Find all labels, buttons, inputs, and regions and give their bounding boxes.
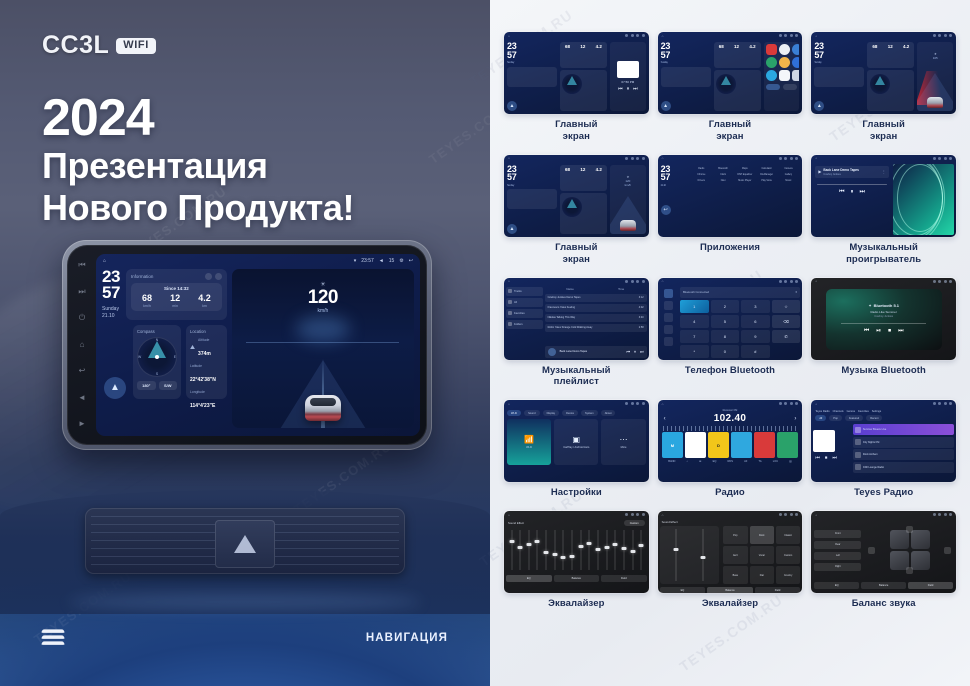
thumbnail-balance[interactable]: ⌂ Front Rear Left Right — [811, 511, 956, 593]
gallery-item[interactable]: ⌂ 235721.10 ↩ Radio Bluetooth Maps Calcu… — [658, 155, 803, 275]
preset-tiles[interactable]: M D — [660, 432, 801, 458]
next-icon[interactable]: ⏭ — [832, 455, 837, 461]
altitude-label: Altitude — [198, 338, 211, 342]
key-2[interactable]: 2 — [711, 300, 740, 313]
speaker-pad[interactable] — [890, 530, 930, 570]
hardware-button-strip[interactable]: ⏮ ⏭ ⏻ ⌂ ↩ ◄ ► — [74, 260, 90, 428]
app-tile[interactable]: Calculator — [757, 167, 777, 170]
slider[interactable] — [701, 529, 704, 581]
playback-controls[interactable]: ⏮ ⏯ ⏹ ⏭ — [864, 328, 904, 335]
next-icon[interactable]: › — [794, 416, 796, 422]
arrow-up-icon[interactable] — [906, 526, 913, 533]
eq-band[interactable] — [534, 528, 541, 572]
prev-icon[interactable]: ⏮ — [864, 328, 869, 335]
gallery-item[interactable]: ⌂ 2357Sunday ▲ 68124.2 — [811, 32, 956, 152]
drive-view-widget[interactable]: ☀ 120 km/h — [232, 269, 414, 428]
prev-icon[interactable]: ‹ — [664, 416, 666, 422]
gallery-grid: ⌂ 2357 Sunday ▲ 68124.2 — [504, 32, 956, 619]
prev-icon[interactable]: ⏮ — [815, 455, 820, 461]
app-tile[interactable]: Clock — [713, 173, 733, 176]
gallery-item[interactable]: ⌂ Front Rear Left Right — [811, 511, 956, 619]
menu-icon[interactable]: ▤ — [789, 460, 791, 463]
home-icon: ⌂ — [662, 402, 664, 406]
compass-direction: S/W — [159, 381, 178, 390]
preset-rock[interactable]: Rock — [750, 526, 774, 544]
gallery-item[interactable]: ⌂ Sound Effect Pop Rock Classic — [658, 511, 803, 619]
panel-more[interactable]: ⋯More — [601, 419, 645, 465]
clock-minutes: 57 — [102, 285, 120, 301]
eq-band[interactable] — [525, 528, 532, 572]
wifi-icon: ▾ — [354, 258, 357, 264]
preset-2[interactable] — [685, 432, 707, 458]
speed-readout: ☀105 — [917, 52, 953, 60]
stop-icon[interactable]: ⏹ — [888, 328, 891, 335]
preset-classic[interactable]: Classic — [776, 526, 800, 544]
search-icon[interactable] — [664, 313, 673, 322]
longitude-value: 114°4'23"E — [190, 403, 215, 409]
next-track-button[interactable]: ⏭ — [78, 287, 87, 296]
contacts-icon[interactable] — [664, 301, 673, 310]
gallery-item[interactable]: ⌂ 2357Sunday ▲ 68124.2 — [504, 155, 649, 275]
volume-up-button[interactable]: ► — [78, 419, 87, 428]
button-right[interactable]: Right — [814, 563, 861, 571]
product-logo: CC3L WIFI — [42, 31, 156, 60]
prev-icon[interactable]: ⏮ — [839, 189, 844, 196]
app-tile[interactable]: Gallery — [779, 173, 799, 176]
arrow-left-icon[interactable] — [868, 547, 875, 554]
play-pause-icon[interactable]: ⏯ — [876, 328, 881, 335]
navigation-arrow-icon: ▲ — [507, 224, 517, 234]
sidebar-item[interactable]: Tracks — [506, 287, 543, 296]
eq-band[interactable] — [620, 528, 627, 572]
app-tile[interactable]: Camera — [779, 167, 799, 170]
compass-dial: N E S W — [137, 337, 177, 377]
ta-icon[interactable]: TA — [759, 460, 762, 463]
gallery-item[interactable]: ⌂ 2357Sunday ▲ 68124.2 — [658, 32, 803, 152]
compass-s: S — [156, 372, 158, 376]
button-front[interactable]: Front — [814, 530, 861, 538]
button-left[interactable]: Left — [814, 552, 861, 560]
tab-field[interactable]: Field — [601, 575, 647, 582]
thumbnail-home-drive[interactable]: ⌂ 2357Sunday ▲ 68124.2 — [504, 155, 649, 237]
sidebar-item[interactable]: Favorites — [506, 309, 543, 318]
tab-eq[interactable]: EQ — [506, 575, 552, 582]
teyes-radio-chips[interactable]: All Pop Featured Recent — [813, 414, 954, 422]
home-icon: ⌂ — [508, 513, 510, 517]
preset-country[interactable]: Country — [776, 566, 800, 584]
band-icon[interactable]: BAND — [668, 460, 675, 463]
compass-heading: 180° — [137, 381, 156, 390]
eq-band[interactable] — [577, 528, 584, 572]
stat-distance: 4.2 km — [198, 294, 211, 308]
thumbnail-playlist[interactable]: ⌂ Tracks All Favorites Folders NameTime … — [504, 278, 649, 360]
loc-icon[interactable]: LOC — [773, 460, 778, 463]
app-tile[interactable]: Chrome — [691, 173, 711, 176]
gallery-caption: Главныйэкран — [555, 242, 597, 275]
eq-band[interactable] — [603, 528, 610, 572]
mini-clock: 235721.10 — [661, 165, 689, 188]
album-art — [813, 430, 835, 452]
eq-icon[interactable]: EQ — [713, 460, 717, 463]
tab-genres[interactable]: Genres — [847, 410, 856, 413]
expand-icon[interactable] — [215, 273, 222, 280]
gallery-item[interactable]: ⌂ 2357 Sunday ▲ 68124.2 — [504, 32, 649, 152]
app-tile[interactable]: FileManager — [757, 173, 777, 176]
more-icon[interactable]: ⋮ — [882, 169, 886, 174]
thumbnail-equalizer[interactable]: ⌂ Sound Effect Custom — [504, 511, 649, 593]
key-7[interactable]: 7 — [680, 330, 709, 343]
prev-track-button[interactable]: ⏮ — [78, 260, 87, 269]
stop-icon[interactable]: ⏹ — [825, 455, 828, 461]
information-widget[interactable]: Information Since 14:32 — [126, 269, 227, 320]
arrow-down-icon[interactable] — [906, 567, 913, 574]
keypad[interactable]: 1 2 3 ☆ 4 5 6 ⌫ 7 8 9 ✆ — [680, 300, 800, 358]
eq-band-bank[interactable] — [506, 528, 647, 572]
app-tile[interactable]: Navi — [713, 179, 733, 182]
tab-settings[interactable]: Settings — [872, 410, 881, 413]
key-5[interactable]: 5 — [711, 315, 740, 328]
tab-favorites[interactable]: Favorites — [858, 410, 869, 413]
bt-music-card: ✦Bluetooth 5.1 Radio Like Summer Cowboy … — [826, 289, 942, 350]
gallery-caption: Главныйэкран — [555, 119, 597, 152]
tab-field[interactable]: Field — [755, 587, 801, 593]
now-playing-row[interactable]: ▶ Back Lane Demo Tapes Cowboy Junkies ⋮ — [815, 166, 888, 178]
bt-title: Bluetooth 5.1 — [874, 303, 899, 308]
information-title: Information — [131, 274, 154, 279]
preset-1[interactable]: M — [662, 432, 684, 458]
equalizer-preset[interactable]: Custom — [624, 520, 645, 526]
mini-clock: 2357 Sunday — [507, 42, 557, 65]
dialer-sidebar[interactable] — [660, 287, 678, 358]
pause-icon[interactable]: ⏸ — [851, 189, 854, 196]
latitude-value: 22°42'38"N — [190, 377, 216, 383]
eq-footer-tabs[interactable]: EQ Balance Field — [660, 587, 801, 593]
headline: 2024 Презентация Нового Продукта! — [42, 92, 354, 229]
home-icon: ⌂ — [815, 156, 817, 160]
search-icon[interactable]: ⌕ — [687, 460, 688, 463]
keypad-icon[interactable] — [664, 289, 673, 298]
eq-band[interactable] — [594, 528, 601, 572]
media-time: 07:50 PM — [621, 80, 634, 84]
button-rear[interactable]: Rear — [814, 541, 861, 549]
column-name: Name — [547, 287, 594, 291]
sidebar-item[interactable]: All — [506, 298, 543, 307]
gallery-item[interactable]: ⌂ Sound Effect Custom — [504, 511, 649, 619]
eq-band[interactable] — [560, 528, 567, 572]
head-unit-screen[interactable]: ⌂ ▾ 23:57 ◄ 15 ⚙ ↩ — [96, 254, 420, 436]
preset-4[interactable] — [731, 432, 753, 458]
tab-balance[interactable]: Balance — [861, 582, 906, 589]
tab-balance[interactable]: Balance — [554, 575, 600, 582]
compass-w: W — [138, 355, 141, 359]
thumbnail-home-drive-red[interactable]: ⌂ 2357Sunday ▲ 68124.2 — [811, 32, 956, 114]
gallery-caption: Приложения — [700, 242, 760, 263]
refresh-icon[interactable] — [205, 273, 212, 280]
panel-wifi[interactable]: 📶Wi-Fi — [507, 419, 551, 465]
compass-widget[interactable]: Compass N E S W 180° — [133, 325, 181, 399]
home-icon: ⌂ — [508, 402, 510, 406]
key-8[interactable]: 8 — [711, 330, 740, 343]
preset-bass[interactable]: Bass — [723, 566, 747, 584]
favorite-icon[interactable]: ☆ — [772, 300, 801, 313]
key-1[interactable]: 1 — [680, 300, 709, 313]
arrow-right-icon[interactable] — [944, 547, 951, 554]
stat-speed: 68 km/h — [142, 294, 152, 308]
key-3[interactable]: 3 — [741, 300, 770, 313]
tab-balance[interactable]: Balance — [707, 587, 753, 593]
chip-featured[interactable]: Featured — [845, 415, 863, 421]
station-row[interactable]: Rock Anthem — [853, 449, 954, 460]
thumbnail-dialer[interactable]: ⌂ Bluetooth Connected ✦ — [658, 278, 803, 360]
next-icon[interactable]: ⏭ — [640, 349, 644, 354]
settings-icon[interactable] — [664, 337, 673, 346]
playback-controls[interactable]: ⏮⏹⏭ — [813, 455, 850, 461]
tab-system[interactable]: System — [581, 410, 598, 416]
home-button[interactable]: ⌂ — [78, 340, 87, 349]
home-icon: ⌂ — [815, 34, 817, 38]
track-row[interactable]: Robin Yates Strange Cold Walking Away2:5… — [545, 324, 647, 332]
gallery-item[interactable]: ⌂ Bluetooth Connected ✦ — [658, 278, 803, 398]
power-button[interactable]: ⏻ — [78, 313, 87, 322]
eq-band[interactable] — [629, 528, 636, 572]
navigation-arrow-icon[interactable]: ▲ — [104, 377, 126, 399]
tuner-scale[interactable] — [663, 426, 798, 431]
preset-custom[interactable]: Custom — [776, 546, 800, 564]
home-icon: ⌂ — [815, 279, 817, 283]
speed-unit: km/h — [232, 308, 414, 314]
headline-line-2: Нового Продукта! — [42, 187, 354, 229]
station-row[interactable]: Chill Lounge Radio — [853, 462, 954, 473]
bt-track: Radio Like Summer — [870, 310, 896, 314]
eq-band[interactable] — [508, 528, 515, 572]
chip-all[interactable]: All — [815, 415, 826, 421]
gallery-item[interactable]: ⌂ ▶ Back Lane Demo Tapes Cowboy Junkies … — [811, 155, 956, 275]
hazard-button[interactable] — [215, 520, 275, 568]
progress-bar[interactable] — [841, 323, 927, 324]
tab-teyes-radio[interactable]: Teyes Radio — [815, 410, 829, 413]
thumbnail-bt-music[interactable]: ⌂ ✦Bluetooth 5.1 Radio Like Summer Cowbo… — [811, 278, 956, 360]
preset-pop[interactable]: Pop — [723, 526, 747, 544]
location-title: Location — [190, 329, 223, 334]
track-title: Back Lane Demo Tapes — [823, 168, 879, 172]
key-9[interactable]: 9 — [741, 330, 770, 343]
recents-icon[interactable] — [664, 325, 673, 334]
preset-5[interactable] — [754, 432, 776, 458]
eq-band[interactable] — [612, 528, 619, 572]
tab-device[interactable]: Device — [562, 410, 578, 416]
pause-icon[interactable]: ⏸ — [634, 349, 636, 354]
app-tile[interactable]: Bluetooth — [713, 167, 733, 170]
compass-n: N — [156, 338, 158, 342]
gallery-item[interactable]: ⌂ ✦Bluetooth 5.1 Radio Like Summer Cowbo… — [811, 278, 956, 398]
altitude-value: 374m — [198, 351, 211, 357]
backspace-icon[interactable]: ⌫ — [772, 315, 801, 328]
eq-band[interactable] — [586, 528, 593, 572]
hazard-triangle-icon — [234, 535, 256, 553]
eq-band[interactable] — [551, 528, 558, 572]
mini-clock: 2357Sunday — [814, 42, 864, 65]
eq-band[interactable] — [638, 528, 645, 572]
eq2-sliders[interactable] — [660, 526, 719, 584]
gallery-caption: Teyes Радио — [854, 487, 913, 508]
next-icon[interactable]: ⏭ — [898, 328, 903, 335]
home-icon[interactable]: ⌂ — [103, 258, 106, 264]
thumbnail-home-media[interactable]: ⌂ 2357 Sunday ▲ 68124.2 — [504, 32, 649, 114]
station-list[interactable]: Summer Breeze Live City Nights FM Rock A… — [853, 424, 954, 476]
equalizer-title: Sound Effect — [508, 521, 524, 525]
altitude-icon: ⛰ — [190, 345, 195, 352]
presentation-slide: TEYES.COM.RU TEYES.COM.RU TEYES.COM.RU T… — [0, 0, 970, 686]
tab-channels[interactable]: Channels — [833, 410, 844, 413]
next-icon[interactable]: ⏭ — [860, 189, 865, 196]
headline-year: 2024 — [42, 92, 354, 145]
eq-band[interactable] — [568, 528, 575, 572]
gallery-caption: Телефон Bluetooth — [685, 365, 775, 386]
navigation-arrow-icon: ▲ — [507, 101, 517, 111]
gallery-item[interactable]: ⌂ Teyes Radio Channels Genres Favorites … — [811, 400, 956, 508]
gallery-item[interactable]: ⌂ Receiver FM ‹ 102.40 › M D — [658, 400, 803, 508]
preset-vocal[interactable]: Vocal — [750, 546, 774, 564]
tab-display[interactable]: Display — [543, 410, 560, 416]
tab-eq[interactable]: EQ — [660, 587, 706, 593]
eq-band[interactable] — [543, 528, 550, 572]
tab-about[interactable]: About — [601, 410, 616, 416]
station-row[interactable]: Summer Breeze Live — [853, 424, 954, 435]
track-row[interactable]: Nikolas Talking This Way3:40 — [545, 314, 647, 322]
app-tile[interactable]: Music — [779, 179, 799, 182]
key-star[interactable]: * — [680, 345, 709, 358]
gallery-caption: Главныйэкран — [709, 119, 751, 152]
back-button[interactable]: ↩ — [78, 366, 87, 375]
status-time: 23:57 — [361, 258, 374, 264]
thumbnail-apps[interactable]: ⌂ 235721.10 ↩ Radio Bluetooth Maps Calcu… — [658, 155, 803, 237]
panel-carplay[interactable]: ▣CarPlay / Android Auto — [554, 419, 598, 465]
tab-field[interactable]: Field — [908, 582, 953, 589]
key-4[interactable]: 4 — [680, 315, 709, 328]
gallery-item[interactable]: ⌂ Wi-Fi Sound Display Device System Abou… — [504, 400, 649, 508]
tab-sound[interactable]: Sound — [524, 410, 540, 416]
volume-down-button[interactable]: ◄ — [78, 393, 87, 402]
gear-icon[interactable]: ⚙ — [399, 258, 403, 264]
clock-day: Sunday — [102, 306, 120, 313]
thumbnail-settings[interactable]: ⌂ Wi-Fi Sound Display Device System Abou… — [504, 400, 649, 482]
track-artist: Cowboy Junkies — [823, 173, 879, 176]
balance-buttons[interactable]: Front Rear Left Right — [814, 530, 861, 571]
app-tile[interactable]: Drivers — [691, 179, 711, 182]
tab-wifi[interactable]: Wi-Fi — [507, 410, 521, 416]
preset-flat[interactable]: Flat — [750, 566, 774, 584]
call-icon[interactable]: ✆ — [772, 330, 801, 343]
chip-recent[interactable]: Recent — [866, 415, 882, 421]
slider[interactable] — [675, 529, 678, 581]
key-6[interactable]: 6 — [741, 315, 770, 328]
location-widget[interactable]: Location ⛰ Altitude 374m — [186, 325, 227, 399]
gallery-caption: Главныйэкран — [862, 119, 904, 152]
gallery-caption: Музыка Bluetooth — [841, 365, 926, 386]
gallery-item[interactable]: ⌂ Tracks All Favorites Folders NameTime … — [504, 278, 649, 398]
home-icon: ⌂ — [662, 279, 664, 283]
track-row[interactable]: Cowboy Junkies Demo Tapes3:12 — [545, 294, 647, 302]
gallery-caption: Эквалайзер — [548, 598, 604, 619]
home-left-column: 23 57 Sunday 21.10 Information — [102, 269, 227, 428]
app-tile[interactable]: DSP Equalizer — [735, 173, 755, 176]
af-icon[interactable]: AF — [744, 460, 747, 463]
status-bar: ⌂ ▾ 23:57 ◄ 15 ⚙ ↩ — [96, 254, 420, 267]
app-tile[interactable]: Radio — [691, 167, 711, 170]
progress-bar[interactable] — [817, 184, 886, 185]
gallery-caption: Настройки — [551, 487, 602, 508]
thumbnail-teyes-radio[interactable]: ⌂ Teyes Radio Channels Genres Favorites … — [811, 400, 956, 482]
playback-controls[interactable]: ⏮ ⏸ ⏭ — [815, 189, 888, 196]
bt-artist: Cowboy Junkies — [874, 315, 893, 318]
volume-icon: ◄ — [379, 258, 384, 264]
prev-icon[interactable]: ⏮ — [626, 349, 630, 354]
sidebar-item[interactable]: Folders — [506, 320, 543, 329]
key-hash[interactable]: # — [741, 345, 770, 358]
app-tile[interactable]: Music Player — [735, 179, 755, 182]
tab-eq[interactable]: EQ — [814, 582, 859, 589]
list-icon[interactable]: ☰ — [699, 460, 701, 463]
rds-icon[interactable]: RDS — [727, 460, 732, 463]
mini-player[interactable]: Back Lane Demo Tapes ⏮⏸⏭ — [545, 346, 647, 358]
station-row[interactable]: City Nights FM — [853, 437, 954, 448]
visualizer — [893, 164, 954, 235]
information-since: Since 14:32 — [133, 286, 220, 291]
app-tile[interactable]: Maps — [735, 167, 755, 170]
settings-tabs[interactable]: Wi-Fi Sound Display Device System About — [507, 410, 646, 416]
thumbnail-music-player[interactable]: ⌂ ▶ Back Lane Demo Tapes Cowboy Junkies … — [811, 155, 956, 237]
key-0[interactable]: 0 — [711, 345, 740, 358]
preset-3[interactable]: D — [708, 432, 730, 458]
preset-jazz[interactable]: Jazz — [723, 546, 747, 564]
gallery-caption: Музыкальныйпроигрыватель — [846, 242, 921, 275]
thumbnail-home-apps[interactable]: ⌂ 2357Sunday ▲ 68124.2 — [658, 32, 803, 114]
thumbnail-equalizer-2[interactable]: ⌂ Sound Effect Pop Rock Classic — [658, 511, 803, 593]
radio-toolbar[interactable]: BAND ⌕ ☰ EQ RDS AF TA LOC ▤ — [660, 458, 801, 463]
head-unit: ⏮ ⏭ ⏻ ⌂ ↩ ◄ ► ⌂ ▾ 23:57 ◄ 15 — [62, 240, 432, 450]
hero-panel: TEYES.COM.RU TEYES.COM.RU TEYES.COM.RU T… — [0, 0, 490, 686]
product-logo-text: CC3L — [42, 31, 109, 60]
app-grid[interactable]: Radio Bluetooth Maps Calculator Camera C… — [690, 165, 799, 184]
chip-pop[interactable]: Pop — [829, 415, 842, 421]
playlist-sidebar[interactable]: Tracks All Favorites Folders — [506, 287, 543, 358]
dashboard-illustration: ⏮ ⏭ ⏻ ⌂ ↩ ◄ ► ⌂ ▾ 23:57 ◄ 15 — [0, 228, 490, 686]
play-icon: ▶ — [818, 169, 821, 174]
eq-footer-tabs[interactable]: EQ Balance Field — [814, 582, 953, 589]
back-icon: ↩ — [661, 205, 671, 215]
air-vent — [85, 508, 405, 574]
track-row[interactable]: Francesco Yates Feeling4:02 — [545, 304, 647, 312]
mini-clock: 2357Sunday — [507, 165, 557, 188]
navigation-arrow-icon: ▲ — [661, 101, 671, 111]
preset-keys[interactable]: Pop Rock Classic Jazz Vocal Custom Bass … — [723, 526, 800, 584]
bluetooth-icon[interactable]: ✦ — [795, 290, 797, 294]
column-time: Time — [598, 287, 645, 291]
preset-6[interactable] — [777, 432, 799, 458]
thumbnail-radio[interactable]: ⌂ Receiver FM ‹ 102.40 › M D — [658, 400, 803, 482]
app-tile[interactable]: Play Store — [757, 179, 777, 182]
eq-footer-tabs[interactable]: EQ Balance Field — [506, 575, 647, 582]
center-console — [0, 490, 490, 614]
dial-field[interactable]: Bluetooth Connected ✦ — [680, 287, 800, 298]
back-arrow-icon[interactable]: ↩ — [409, 258, 413, 264]
clock-widget[interactable]: 23 57 Sunday 21.10 — [102, 269, 120, 320]
eq-band[interactable] — [517, 528, 524, 572]
hero-footer: НАВИГАЦИЯ — [0, 628, 490, 650]
gallery-caption: Баланс звука — [852, 598, 916, 619]
balance-pad-area[interactable] — [866, 530, 953, 570]
home-icon: ⌂ — [508, 156, 510, 160]
